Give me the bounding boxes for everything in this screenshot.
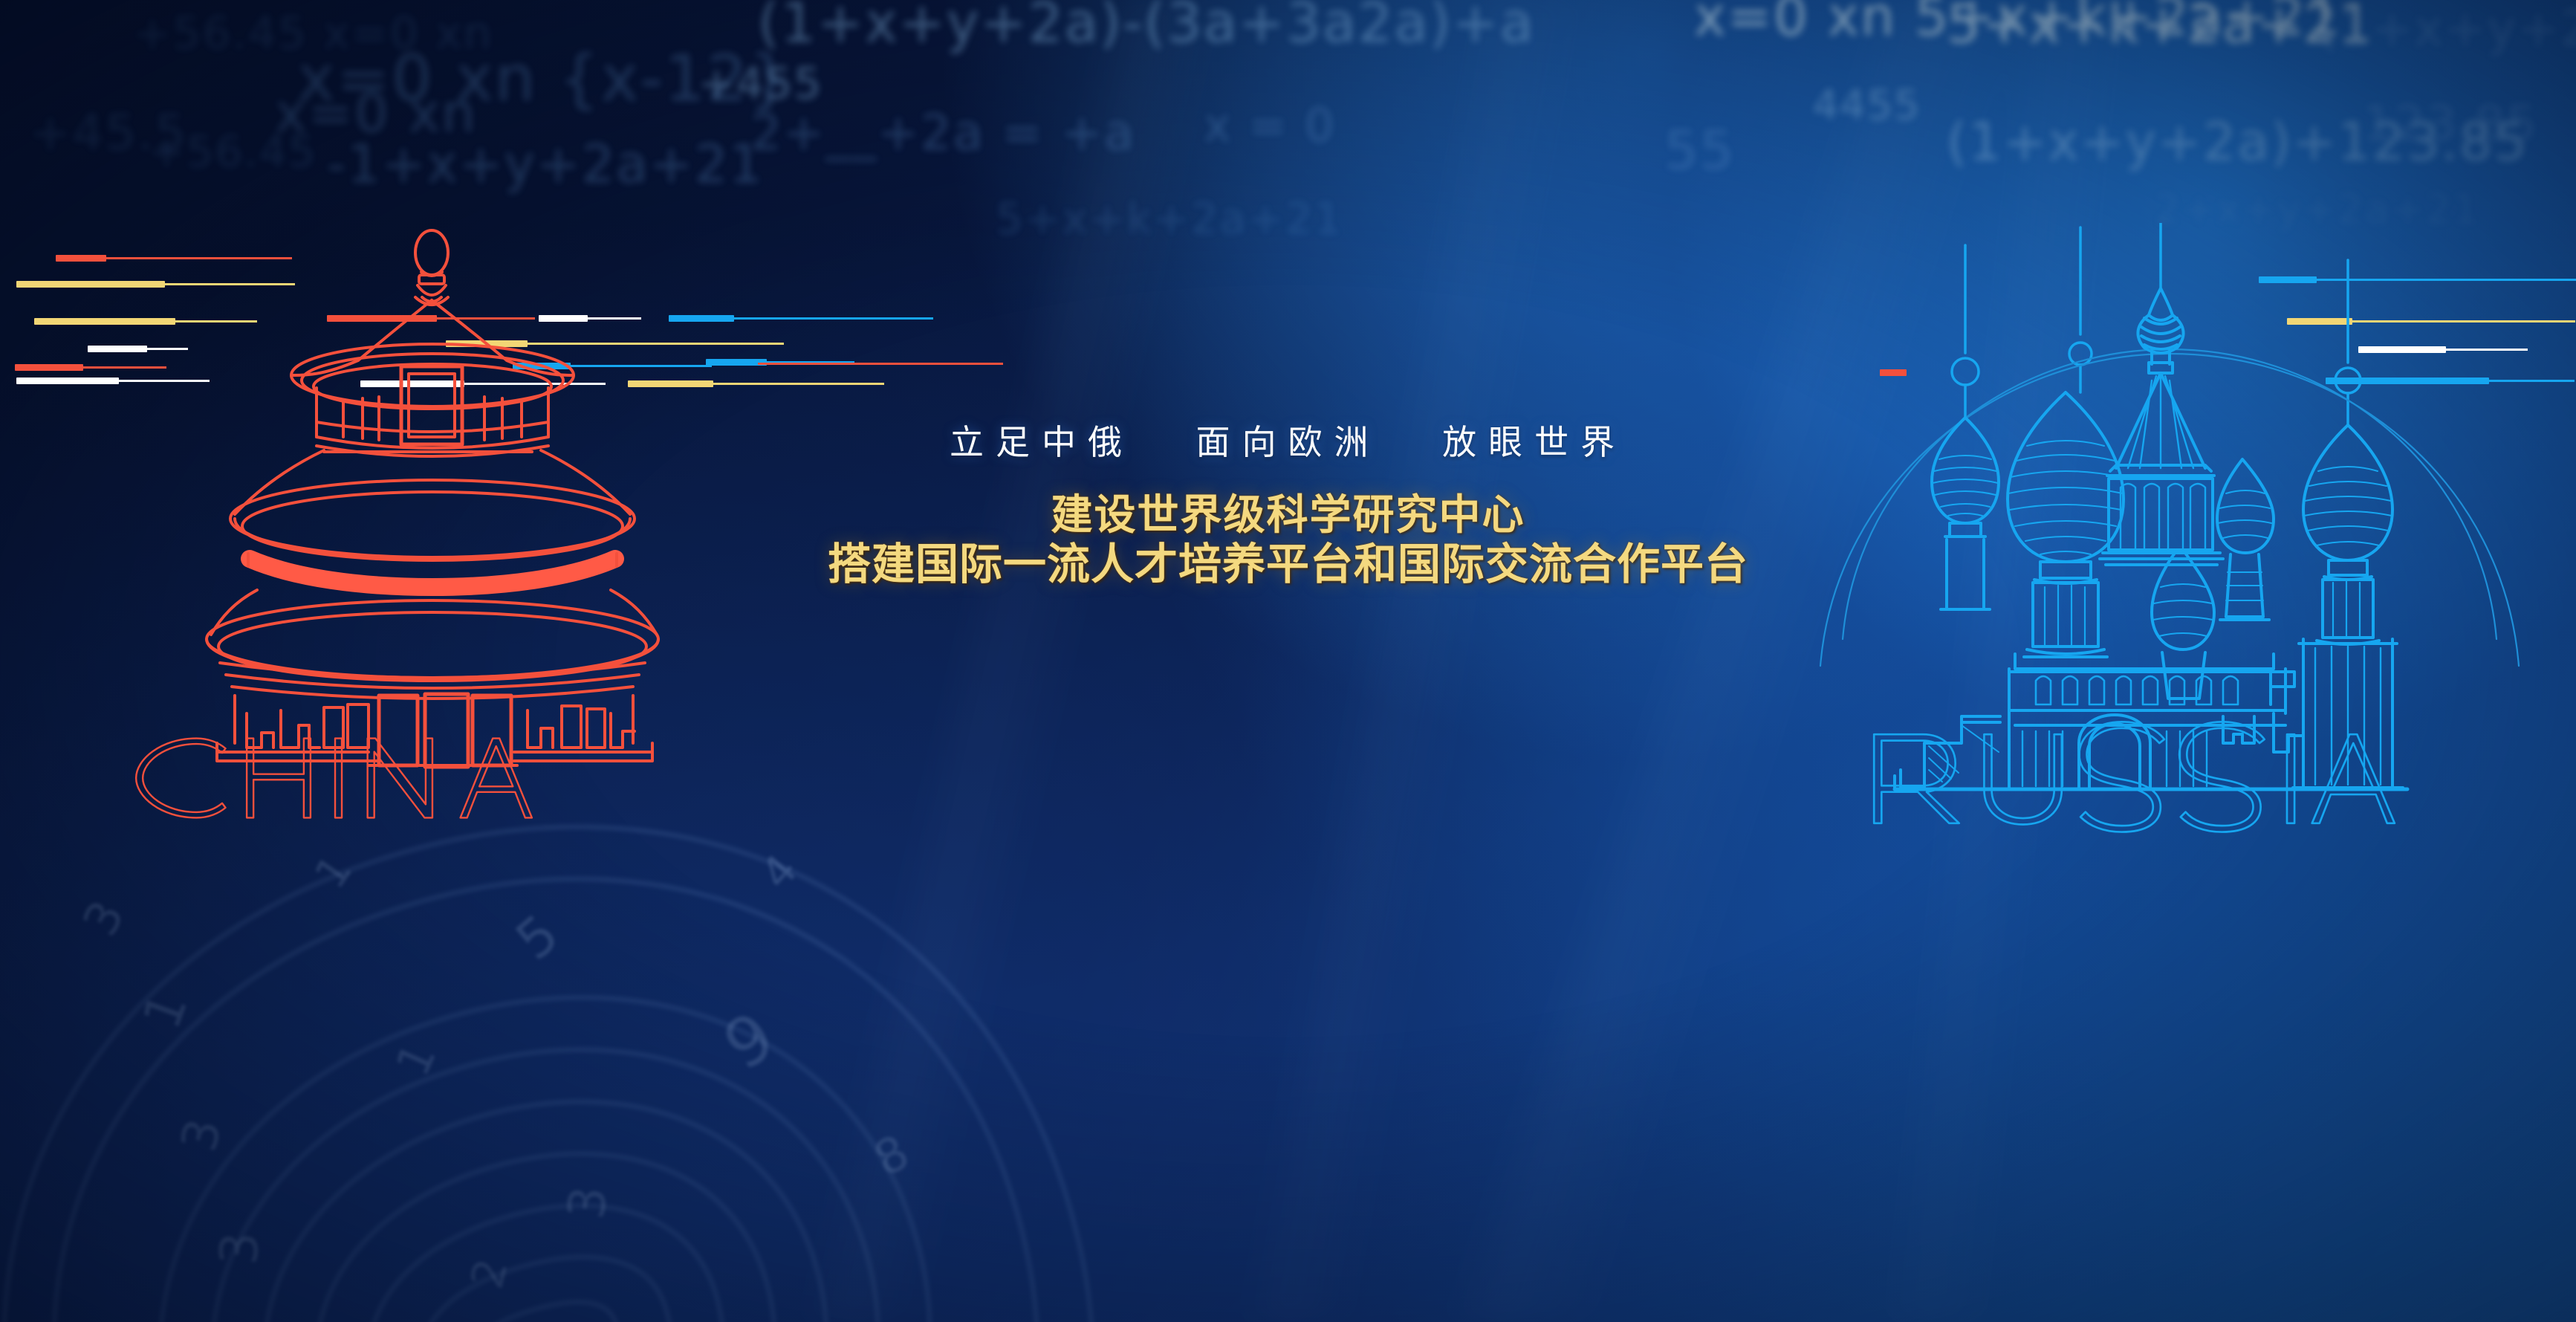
china-label (107, 722, 672, 834)
rule-tail (734, 317, 933, 320)
rule-tail (758, 363, 1003, 365)
tagline-part-2: 面向欧洲 (1196, 423, 1381, 461)
tagline-part-3: 放眼世界 (1442, 423, 1626, 461)
rule-red-right-mid (758, 363, 1003, 365)
banner-root: 3 1 3 1 1 5 3 9 4 8 3 2 +56.45 x=0 xn x=… (0, 0, 2576, 1322)
tagline: 立足中俄 面向欧洲 放眼世界 (0, 425, 2576, 459)
headline-line-2: 搭建国际一流人才培养平台和国际交流合作平台 (0, 540, 2576, 590)
headline-line-1: 建设世界级科学研究中心 (0, 490, 2576, 540)
copy-block: 立足中俄 面向欧洲 放眼世界 建设世界级科学研究中心 搭建国际一流人才培养平台和… (0, 425, 2576, 591)
russia-label (1834, 719, 2502, 838)
headline-block: 建设世界级科学研究中心 搭建国际一流人才培养平台和国际交流合作平台 (0, 490, 2576, 591)
tagline-part-1: 立足中俄 (950, 423, 1134, 461)
